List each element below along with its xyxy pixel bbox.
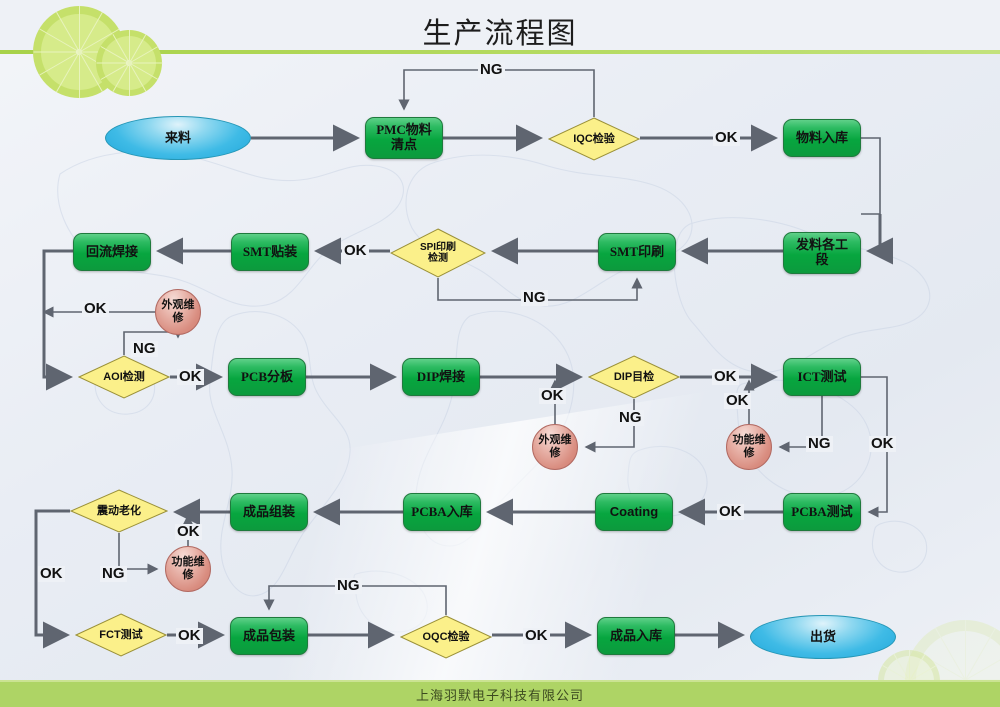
edge-label: NG bbox=[335, 578, 362, 594]
node-label: SMT印刷 bbox=[610, 245, 664, 260]
node-label: PCBA测试 bbox=[791, 505, 852, 520]
node-coating[interactable]: Coating bbox=[595, 493, 673, 531]
node-label: 物料入库 bbox=[796, 131, 848, 146]
edge-label: OK bbox=[176, 628, 203, 644]
node-label: FCT测试 bbox=[99, 629, 142, 642]
node-reflow-soldering[interactable]: 回流焊接 bbox=[73, 233, 151, 271]
node-label: IQC检验 bbox=[573, 133, 615, 146]
node-label: SMT贴装 bbox=[243, 245, 297, 260]
node-label: DIP目检 bbox=[614, 371, 654, 384]
edge-label: NG bbox=[131, 341, 158, 357]
node-label: PCB分板 bbox=[241, 370, 293, 385]
node-finished-goods-in[interactable]: 成品入库 bbox=[597, 617, 675, 655]
node-shipment[interactable]: 出货 bbox=[750, 615, 896, 659]
node-label: 功能维 修 bbox=[172, 556, 205, 581]
node-pcba-test[interactable]: PCBA测试 bbox=[783, 493, 861, 531]
node-label: SPI印刷 检测 bbox=[420, 242, 456, 265]
node-vibration-burn-in[interactable]: 震动老化 bbox=[70, 489, 168, 533]
node-aoi-inspection[interactable]: AOI检测 bbox=[78, 355, 170, 399]
node-label: 出货 bbox=[810, 630, 836, 645]
node-iqc-inspection[interactable]: IQC检验 bbox=[548, 117, 640, 161]
node-dip-soldering[interactable]: DIP焊接 bbox=[402, 358, 480, 396]
node-label: OQC检验 bbox=[422, 631, 469, 644]
node-label: PMC物料 清点 bbox=[376, 123, 432, 153]
node-label: 功能维 修 bbox=[733, 434, 766, 459]
edge-label: OK bbox=[713, 130, 740, 146]
edge-label: OK bbox=[38, 566, 65, 582]
edge-label: OK bbox=[523, 628, 550, 644]
node-incoming[interactable]: 来料 bbox=[105, 116, 251, 160]
node-label: 成品入库 bbox=[610, 629, 662, 644]
flowchart-page: 生产流程图 bbox=[0, 0, 1000, 707]
node-label: 成品组装 bbox=[243, 505, 295, 520]
node-label: Coating bbox=[610, 505, 658, 520]
node-label: AOI检测 bbox=[103, 371, 145, 384]
node-label: 回流焊接 bbox=[86, 245, 138, 260]
edge-label: OK bbox=[712, 369, 739, 385]
edge-label: OK bbox=[82, 301, 109, 317]
edge-label: OK bbox=[175, 524, 202, 540]
node-label: 外观维 修 bbox=[162, 299, 195, 324]
node-appearance-rework-2[interactable]: 外观维 修 bbox=[532, 424, 578, 470]
node-label: PCBA入库 bbox=[411, 505, 472, 520]
edge-label: NG bbox=[478, 62, 505, 78]
node-label: 成品包装 bbox=[243, 629, 295, 644]
edge-label: OK bbox=[869, 436, 896, 452]
edge-label: OK bbox=[539, 388, 566, 404]
node-appearance-rework-1[interactable]: 外观维 修 bbox=[155, 289, 201, 335]
node-oqc-inspection[interactable]: OQC检验 bbox=[400, 615, 492, 659]
node-label: 发料各工 段 bbox=[796, 238, 848, 268]
node-ict-test[interactable]: ICT测试 bbox=[783, 358, 861, 396]
edge-label: OK bbox=[724, 393, 751, 409]
node-function-rework-2[interactable]: 功能维 修 bbox=[165, 546, 211, 592]
node-smt-printing[interactable]: SMT印刷 bbox=[598, 233, 676, 271]
node-pmc-material-count[interactable]: PMC物料 清点 bbox=[365, 117, 443, 159]
node-label: 外观维 修 bbox=[539, 434, 572, 459]
node-label: 来料 bbox=[165, 131, 191, 146]
node-pcb-depanel[interactable]: PCB分板 bbox=[228, 358, 306, 396]
edge-label: OK bbox=[342, 243, 369, 259]
node-label: ICT测试 bbox=[797, 370, 846, 385]
node-dip-visual-inspection[interactable]: DIP目检 bbox=[588, 355, 680, 399]
node-fct-test[interactable]: FCT测试 bbox=[75, 613, 167, 657]
edge-label: NG bbox=[100, 566, 127, 582]
node-function-rework-1[interactable]: 功能维 修 bbox=[726, 424, 772, 470]
edge-label: NG bbox=[617, 410, 644, 426]
node-issue-material[interactable]: 发料各工 段 bbox=[783, 232, 861, 274]
node-final-assembly[interactable]: 成品组装 bbox=[230, 493, 308, 531]
edge-label: OK bbox=[177, 369, 204, 385]
node-final-packing[interactable]: 成品包装 bbox=[230, 617, 308, 655]
node-label: DIP焊接 bbox=[417, 370, 465, 385]
edge-label: NG bbox=[521, 290, 548, 306]
edge-label: OK bbox=[717, 504, 744, 520]
node-label: 震动老化 bbox=[97, 505, 141, 518]
node-material-warehouse-in[interactable]: 物料入库 bbox=[783, 119, 861, 157]
node-spi-print-inspection[interactable]: SPI印刷 检测 bbox=[390, 228, 486, 278]
node-smt-mounting[interactable]: SMT贴装 bbox=[231, 233, 309, 271]
node-pcba-warehouse-in[interactable]: PCBA入库 bbox=[403, 493, 481, 531]
edge-label: NG bbox=[806, 436, 833, 452]
